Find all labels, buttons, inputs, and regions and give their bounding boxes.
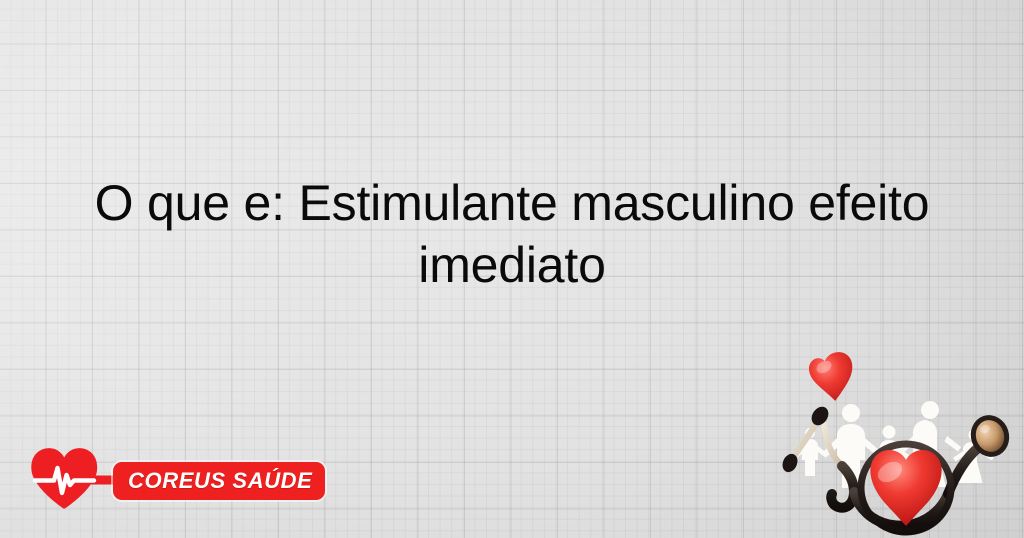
brand-logo[interactable]: COREUS SAÚDE (30, 447, 360, 509)
page-title: O que e: Estimulante masculino efeito im… (20, 172, 1004, 296)
brand-badge: COREUS SAÚDE (113, 462, 325, 500)
slide-canvas: O que e: Estimulante masculino efeito im… (0, 0, 1024, 538)
brand-name-label: COREUS SAÚDE (128, 468, 312, 494)
medical-family-stethoscope-graphic (780, 348, 1024, 538)
floating-heart-icon (807, 350, 859, 405)
